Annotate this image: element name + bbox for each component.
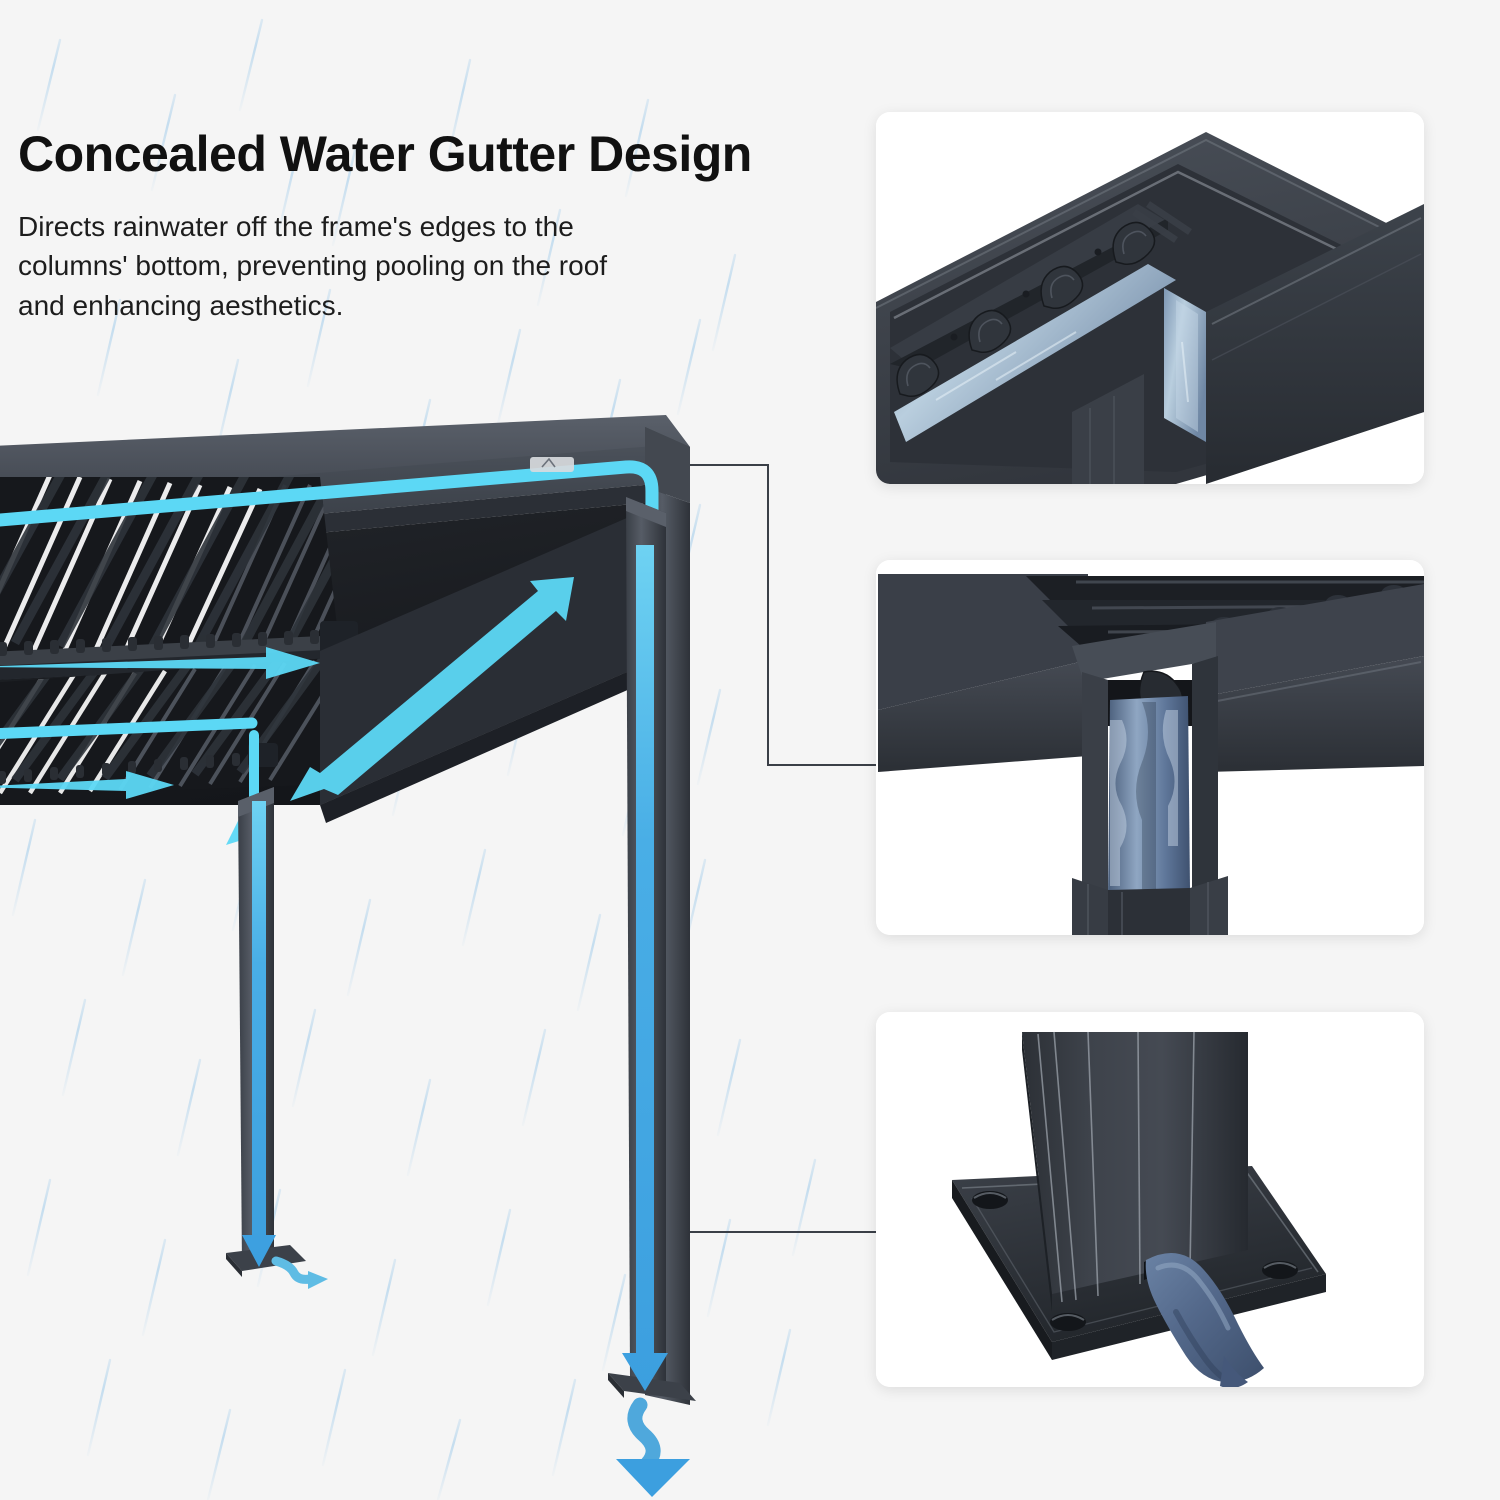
- column-downspout-detail-panel: [876, 560, 1424, 935]
- base-discharge-right: [635, 1405, 653, 1463]
- subtitle-line-3: and enhancing aesthetics.: [18, 286, 848, 326]
- gutter-corner-image: [876, 112, 1424, 484]
- frame-end-cap-badge: [530, 457, 574, 472]
- hero-pergola-illustration: [0, 405, 720, 1500]
- left-column: [226, 787, 328, 1289]
- base-discharge-left: [276, 1261, 310, 1279]
- infographic-canvas: Concealed Water Gutter Design Directs ra…: [0, 0, 1500, 1500]
- page-subtitle: Directs rainwater off the frame's edges …: [18, 207, 848, 326]
- column-left-wall: [1082, 672, 1108, 892]
- column-right-wall: [1192, 656, 1218, 888]
- subtitle-line-1: Directs rainwater off the frame's edges …: [18, 207, 848, 247]
- column-downspout-image: [876, 560, 1424, 935]
- subtitle-line-2: columns' bottom, preventing pooling on t…: [18, 246, 848, 286]
- page-title: Concealed Water Gutter Design: [18, 128, 848, 181]
- base-plate-outlet-image: [876, 1012, 1424, 1387]
- headline-block: Concealed Water Gutter Design Directs ra…: [18, 128, 848, 326]
- gutter-corner-detail-panel: [876, 112, 1424, 484]
- base-plate-outlet-detail-panel: [876, 1012, 1424, 1387]
